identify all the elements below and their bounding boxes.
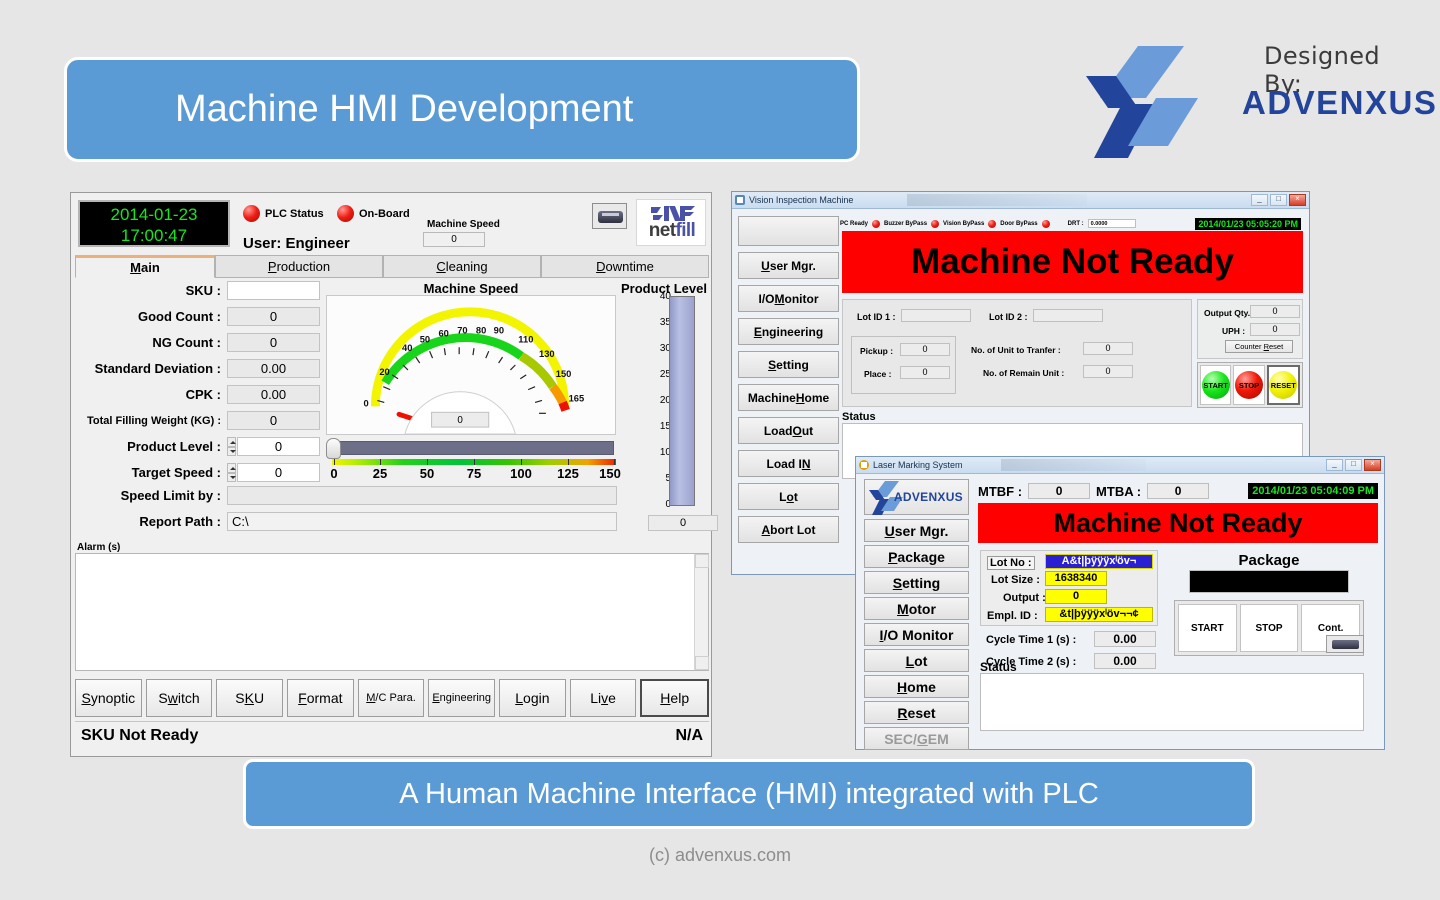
- laser-start-button[interactable]: START: [1178, 604, 1237, 652]
- sidebar-item-lot[interactable]: Lot: [864, 649, 969, 672]
- hmi-form-fields: SKU : Good Count : 0 NG Count : 0 Standa…: [75, 278, 320, 486]
- mtbf-label: MTBF :: [978, 484, 1022, 499]
- hmi-status-bar: SKU Not Ready N/A: [75, 721, 709, 749]
- laser-top-row: MTBF : 0 MTBA : 0 2014/01/23 05:04:09 PM: [978, 481, 1378, 501]
- package-title: Package: [1174, 552, 1364, 569]
- sidebar-item-io-monitor[interactable]: I/O Monitor: [738, 285, 839, 312]
- svg-text:20: 20: [379, 367, 389, 377]
- unit-to-transfer-label: No. of Unit to Tranfer :: [971, 345, 1061, 355]
- gauge-title: Machine Speed: [326, 281, 616, 296]
- engineering-button[interactable]: Engineering: [428, 679, 495, 717]
- buzzer-bypass-led-icon: [931, 220, 939, 228]
- window-app-icon: [859, 460, 869, 470]
- gauge-svg: 0 20 40 50 60 70 80 90 110 130 150 165 0: [327, 296, 615, 434]
- field-label: Product Level :: [75, 439, 227, 454]
- output-value[interactable]: 0: [1045, 589, 1107, 604]
- field-row-target-speed: Target Speed : 0: [75, 460, 320, 485]
- place-value: 0: [900, 366, 950, 379]
- netfill-logo: netfill: [636, 199, 706, 246]
- product-level-bar: [669, 296, 695, 506]
- machine-speed-header-label: Machine Speed: [427, 219, 500, 230]
- slider-tick-label: 100: [510, 466, 532, 481]
- field-label: Good Count :: [75, 309, 227, 324]
- door-bypass-led-icon: [1042, 220, 1050, 228]
- current-user-label: User: Engineer: [243, 235, 350, 252]
- caption-text: A Human Machine Interface (HMI) integrat…: [399, 778, 1099, 811]
- vision-stop-button[interactable]: STOP: [1233, 365, 1264, 405]
- sidebar-item-load-in[interactable]: Load IN: [738, 450, 839, 477]
- empl-id-label: Empl. ID :: [987, 610, 1038, 622]
- page-title: Machine HMI Development: [175, 88, 633, 131]
- vision-reset-button[interactable]: RESET: [1267, 365, 1300, 405]
- field-row-total-filling-weight: Total Filling Weight (KG) : 0: [75, 408, 320, 433]
- sidebar-item-sec-gem[interactable]: SEC/GEM: [864, 727, 969, 750]
- laser-brand-logo: ADVENXUS: [864, 479, 969, 515]
- laser-window-title: Laser Marking System: [873, 460, 963, 470]
- field-label: Total Filling Weight (KG) :: [75, 415, 227, 427]
- sidebar-item-home[interactable]: Home: [864, 675, 969, 698]
- field-label: SKU :: [75, 283, 227, 298]
- door-bypass-label: Door ByPass: [1000, 221, 1037, 227]
- alarms-scrollbar[interactable]: [694, 554, 708, 670]
- sidebar-item-machine-home[interactable]: Machine Home: [738, 384, 839, 411]
- pc-ready-led-icon: [872, 220, 880, 228]
- start-lamp-icon: START: [1202, 371, 1230, 399]
- svg-text:165: 165: [569, 393, 585, 403]
- sidebar-item-setting[interactable]: Setting: [864, 571, 969, 594]
- output-qty-label: Output Qty. :: [1204, 308, 1255, 318]
- axis-tick: 10: [631, 447, 671, 458]
- svg-text:80: 80: [476, 325, 486, 335]
- remain-unit-label: No. of Remain Unit :: [983, 368, 1064, 378]
- field-label: Speed Limit by :: [75, 488, 227, 503]
- vision-control-buttons: START STOP RESET: [1197, 362, 1303, 408]
- product-level-stepper[interactable]: [227, 437, 236, 456]
- slider-tick-label: 150: [599, 466, 621, 481]
- cycle-time-1-value: 0.00: [1094, 631, 1156, 647]
- field-row-cpk: CPK : 0.00: [75, 382, 320, 407]
- field-row-sku: SKU :: [75, 278, 320, 303]
- scroll-down-icon[interactable]: [695, 656, 709, 670]
- laser-clock: 2014/01/23 05:04:09 PM: [1248, 483, 1378, 499]
- svg-text:70: 70: [457, 325, 467, 335]
- sidebar-item-engineering[interactable]: Engineering: [738, 318, 839, 345]
- cycle-time-2-value: 0.00: [1094, 653, 1156, 669]
- hmi-wide-fields: Speed Limit by : Report Path : C:\: [75, 483, 675, 535]
- laser-lot-panel: Lot No : A&t|þÿÿÿxˡöv¬ Lot Size : 163834…: [980, 550, 1158, 626]
- vision-clock: 2014/01/23 05:05:20 PM: [1195, 218, 1301, 230]
- product-level-readout: 0: [648, 515, 718, 531]
- axis-tick: 35: [631, 317, 671, 328]
- minimize-button[interactable]: _: [1251, 194, 1268, 206]
- clock-time: 17:00:47: [80, 225, 228, 246]
- vision-bypass-led-icon: [988, 220, 996, 228]
- vision-bypass-label: Vision ByPass: [943, 221, 984, 227]
- lot-id-1-input[interactable]: [901, 309, 971, 322]
- vision-status-label: Status: [842, 411, 876, 423]
- vision-sidebar: User Mgr. I/O Monitor Engineering Settin…: [738, 216, 839, 549]
- slider-track[interactable]: [332, 441, 614, 455]
- laser-stop-button[interactable]: STOP: [1240, 604, 1299, 652]
- stepper-down-icon[interactable]: [227, 473, 236, 483]
- stepper-up-icon[interactable]: [227, 463, 236, 473]
- sidebar-item-user-mgr[interactable]: User Mgr.: [738, 252, 839, 279]
- speed-limit-by-value: [227, 486, 617, 505]
- lot-size-value[interactable]: 1638340: [1045, 571, 1107, 586]
- onboard-status-indicator: On-Board: [337, 205, 410, 222]
- laser-status-label: Status: [980, 660, 1017, 674]
- buzzer-bypass-label: Buzzer ByPass: [884, 221, 927, 227]
- tab-cleaning[interactable]: Cleaning: [383, 255, 541, 278]
- sidebar-item-setting[interactable]: Setting: [738, 351, 839, 378]
- vision-indicator-row: PC Ready Buzzer ByPass Vision ByPass Doo…: [840, 218, 1303, 229]
- slider-tick-label: 50: [420, 466, 434, 481]
- vision-window-controls: _ □ ×: [1251, 194, 1306, 206]
- uph-label: UPH :: [1222, 326, 1245, 336]
- axis-tick: 40: [631, 291, 671, 302]
- scroll-up-icon[interactable]: [695, 554, 709, 568]
- vision-start-button[interactable]: START: [1200, 365, 1231, 405]
- axis-tick: 20: [631, 395, 671, 406]
- place-label: Place :: [864, 369, 891, 379]
- package-display: [1189, 570, 1349, 593]
- close-button[interactable]: ×: [1364, 459, 1381, 471]
- pc-ready-label: PC Ready: [840, 221, 868, 227]
- netfill-net-text: net: [649, 220, 676, 241]
- good-count-value: 0: [227, 307, 320, 326]
- netfill-fill-text: fill: [675, 220, 695, 241]
- target-speed-stepper[interactable]: [227, 463, 236, 482]
- vision-banner-text: Machine Not Ready: [911, 242, 1234, 282]
- field-row-standard-deviation: Standard Deviation : 0.00: [75, 356, 320, 381]
- empl-id-value[interactable]: &t|þÿÿÿxˡöv¬¬¢: [1045, 607, 1153, 622]
- titlebar-ghost-overlay: [1001, 459, 1146, 471]
- report-path-input[interactable]: C:\: [227, 512, 617, 531]
- stepper-down-icon[interactable]: [227, 447, 236, 457]
- sidebar-item-reset[interactable]: Reset: [864, 701, 969, 724]
- alarms-listbox[interactable]: [75, 553, 709, 671]
- maximize-button[interactable]: □: [1345, 459, 1362, 471]
- onboard-led-icon: [337, 205, 354, 222]
- plc-status-indicator: PLC Status: [243, 205, 324, 222]
- vision-status-banner: Machine Not Ready: [842, 231, 1303, 293]
- lot-no-value[interactable]: A&t|þÿÿÿxˡöv¬: [1045, 554, 1153, 569]
- status-right-text: N/A: [675, 727, 703, 745]
- mtbf-value: 0: [1028, 483, 1090, 499]
- sidebar-blank-button[interactable]: [738, 216, 839, 246]
- advenxus-brand-text: ADVENXUS: [1242, 84, 1437, 122]
- svg-text:0: 0: [364, 398, 369, 408]
- slider-thumb[interactable]: [326, 438, 341, 459]
- svg-text:50: 50: [420, 334, 430, 344]
- clock-date: 2014-01-23: [80, 204, 228, 225]
- drt-value: 0.0000: [1088, 219, 1136, 228]
- advenxus-logo-icon: [1086, 46, 1236, 158]
- pickup-label: Pickup :: [860, 346, 893, 356]
- product-level-axis: 40 35 30 25 20 15 10 5 0: [627, 291, 671, 513]
- start-lamp-icon: START: [1185, 608, 1229, 648]
- slider-tick-label: 25: [373, 466, 387, 481]
- status-text: SKU Not Ready: [81, 727, 198, 745]
- sidebar-item-io-monitor[interactable]: I/O Monitor: [864, 623, 969, 646]
- lot-id-2-input[interactable]: [1033, 309, 1103, 322]
- hmi-command-buttons: Synoptic Switch SKU Format M/C Para. Eng…: [75, 679, 709, 717]
- vision-pickplace-group: Pickup : 0 Place : 0: [851, 336, 956, 394]
- cpk-value: 0.00: [227, 385, 320, 404]
- lot-id-1-label: Lot ID 1 :: [857, 312, 896, 322]
- axis-tick: 15: [631, 421, 671, 432]
- slider-tick-label: 125: [557, 466, 579, 481]
- field-row-good-count: Good Count : 0: [75, 304, 320, 329]
- counter-reset-button[interactable]: Counter Reset: [1225, 340, 1293, 353]
- clock-display: 2014-01-23 17:00:47: [78, 200, 230, 247]
- onboard-label: On-Board: [359, 208, 410, 220]
- sidebar-item-user-mgr[interactable]: User Mgr.: [864, 519, 969, 542]
- designed-by-block: Designed By: ADVENXUS: [1082, 38, 1422, 163]
- laser-window-controls: _ □ ×: [1326, 459, 1381, 471]
- print-button[interactable]: [592, 203, 627, 229]
- field-row-ng-count: NG Count : 0: [75, 330, 320, 355]
- sidebar-item-load-out[interactable]: Load Out: [738, 417, 839, 444]
- cycle-time-1-label: Cycle Time 1 (s) :: [986, 634, 1076, 646]
- stepper-up-icon[interactable]: [227, 437, 236, 447]
- tab-downtime[interactable]: Downtime: [541, 255, 709, 278]
- svg-text:40: 40: [402, 343, 412, 353]
- minimize-button[interactable]: _: [1326, 459, 1343, 471]
- unit-to-transfer-value: 0: [1083, 342, 1133, 355]
- field-label: Standard Deviation :: [75, 361, 227, 376]
- field-label: NG Count :: [75, 335, 227, 350]
- slider-tick-label: 0: [330, 466, 337, 481]
- page-title-banner: Machine HMI Development: [64, 57, 860, 162]
- caption-banner: A Human Machine Interface (HMI) integrat…: [243, 759, 1255, 829]
- printer-icon: [598, 211, 623, 223]
- tab-production[interactable]: Production: [215, 255, 383, 278]
- total-filling-weight-value: 0: [227, 411, 320, 430]
- vision-window-title: Vision Inspection Machine: [749, 195, 853, 205]
- alarms-label: Alarm (s): [77, 542, 120, 553]
- plc-status-led-icon: [243, 205, 260, 222]
- vision-lot-panel: Lot ID 1 : Lot ID 2 : Pickup : 0 Place :…: [842, 299, 1192, 407]
- stop-lamp-icon: STOP: [1247, 608, 1291, 648]
- login-button[interactable]: Login: [499, 679, 566, 717]
- speed-slider[interactable]: 0 25 50 75 100 125 150: [326, 438, 616, 482]
- target-speed-input[interactable]: 0: [237, 463, 320, 482]
- sku-input[interactable]: [227, 281, 320, 300]
- field-row-speed-limit-by: Speed Limit by :: [75, 483, 675, 508]
- machine-speed-header-value: 0: [423, 232, 485, 247]
- uph-value: 0: [1250, 323, 1300, 336]
- drt-label: DRT :: [1068, 221, 1084, 227]
- svg-text:110: 110: [518, 334, 533, 344]
- sidebar-item-motor[interactable]: Motor: [864, 597, 969, 620]
- format-button[interactable]: Format: [287, 679, 354, 717]
- axis-tick: 5: [631, 473, 671, 484]
- mtba-value: 0: [1147, 483, 1209, 499]
- laser-marking-window: Laser Marking System _ □ × ADVENXUS User…: [855, 456, 1385, 750]
- mtba-label: MTBA :: [1096, 484, 1141, 499]
- field-row-report-path: Report Path : C:\: [75, 509, 675, 534]
- output-qty-value: 0: [1250, 305, 1300, 318]
- slider-tick-label: 75: [467, 466, 481, 481]
- svg-text:150: 150: [556, 369, 572, 379]
- vision-output-panel: Output Qty. : 0 UPH : 0 Counter Reset: [1197, 299, 1303, 359]
- stop-lamp-icon: STOP: [1235, 371, 1263, 399]
- mc-para-button[interactable]: M/C Para.: [358, 679, 425, 717]
- footer-copyright: (c) advenxus.com: [0, 845, 1440, 866]
- hmi-main-window: 2014-01-23 17:00:47 PLC Status On-Board …: [70, 192, 712, 757]
- switch-button[interactable]: Switch: [146, 679, 213, 717]
- field-label: Target Speed :: [75, 465, 227, 480]
- field-label: CPK :: [75, 387, 227, 402]
- lot-id-2-label: Lot ID 2 :: [989, 312, 1028, 322]
- laser-sidebar: ADVENXUS User Mgr. Package Setting Motor…: [864, 479, 969, 753]
- remain-unit-value: 0: [1083, 365, 1133, 378]
- lot-no-label: Lot No :: [987, 556, 1035, 570]
- plc-status-label: PLC Status: [265, 208, 324, 220]
- laser-banner-text: Machine Not Ready: [1053, 508, 1302, 539]
- sidebar-item-package[interactable]: Package: [864, 545, 969, 568]
- laser-status-banner: Machine Not Ready: [978, 503, 1378, 543]
- netfill-wordmark: netfill: [639, 220, 705, 242]
- help-button[interactable]: Help: [640, 679, 709, 717]
- live-button[interactable]: Live: [570, 679, 637, 717]
- sidebar-item-abort-lot[interactable]: Abort Lot: [738, 516, 839, 543]
- laser-status-textarea[interactable]: [980, 673, 1364, 731]
- svg-text:90: 90: [494, 325, 504, 335]
- window-app-icon: [735, 195, 745, 205]
- sidebar-item-lot[interactable]: Lot: [738, 483, 839, 510]
- close-button[interactable]: ×: [1289, 194, 1306, 206]
- svg-text:130: 130: [539, 349, 555, 359]
- product-level-input[interactable]: 0: [237, 437, 320, 456]
- laser-print-button[interactable]: [1326, 635, 1364, 653]
- sku-button[interactable]: SKU: [216, 679, 283, 717]
- synoptic-button[interactable]: Synoptic: [75, 679, 142, 717]
- axis-tick: 0: [631, 499, 671, 510]
- machine-speed-gauge: 0 20 40 50 60 70 80 90 110 130 150 165 0: [326, 295, 616, 435]
- svg-text:60: 60: [438, 328, 448, 338]
- printer-icon: [1332, 640, 1359, 649]
- laser-brand-text: ADVENXUS: [894, 490, 963, 504]
- lot-size-label: Lot Size :: [991, 574, 1040, 586]
- standard-deviation-value: 0.00: [227, 359, 320, 378]
- output-label: Output :: [1003, 592, 1046, 604]
- axis-tick: 25: [631, 369, 671, 380]
- field-row-product-level: Product Level : 0: [75, 434, 320, 459]
- maximize-button[interactable]: □: [1270, 194, 1287, 206]
- field-label: Report Path :: [75, 514, 227, 529]
- pickup-value: 0: [900, 343, 950, 356]
- tab-main[interactable]: Main: [75, 255, 215, 278]
- titlebar-ghost-overlay: [907, 194, 1087, 206]
- axis-tick: 30: [631, 343, 671, 354]
- hmi-tab-bar: Main Production Cleaning Downtime: [75, 255, 709, 278]
- ng-count-value: 0: [227, 333, 320, 352]
- reset-lamp-icon: RESET: [1269, 371, 1297, 399]
- svg-text:0: 0: [457, 415, 463, 426]
